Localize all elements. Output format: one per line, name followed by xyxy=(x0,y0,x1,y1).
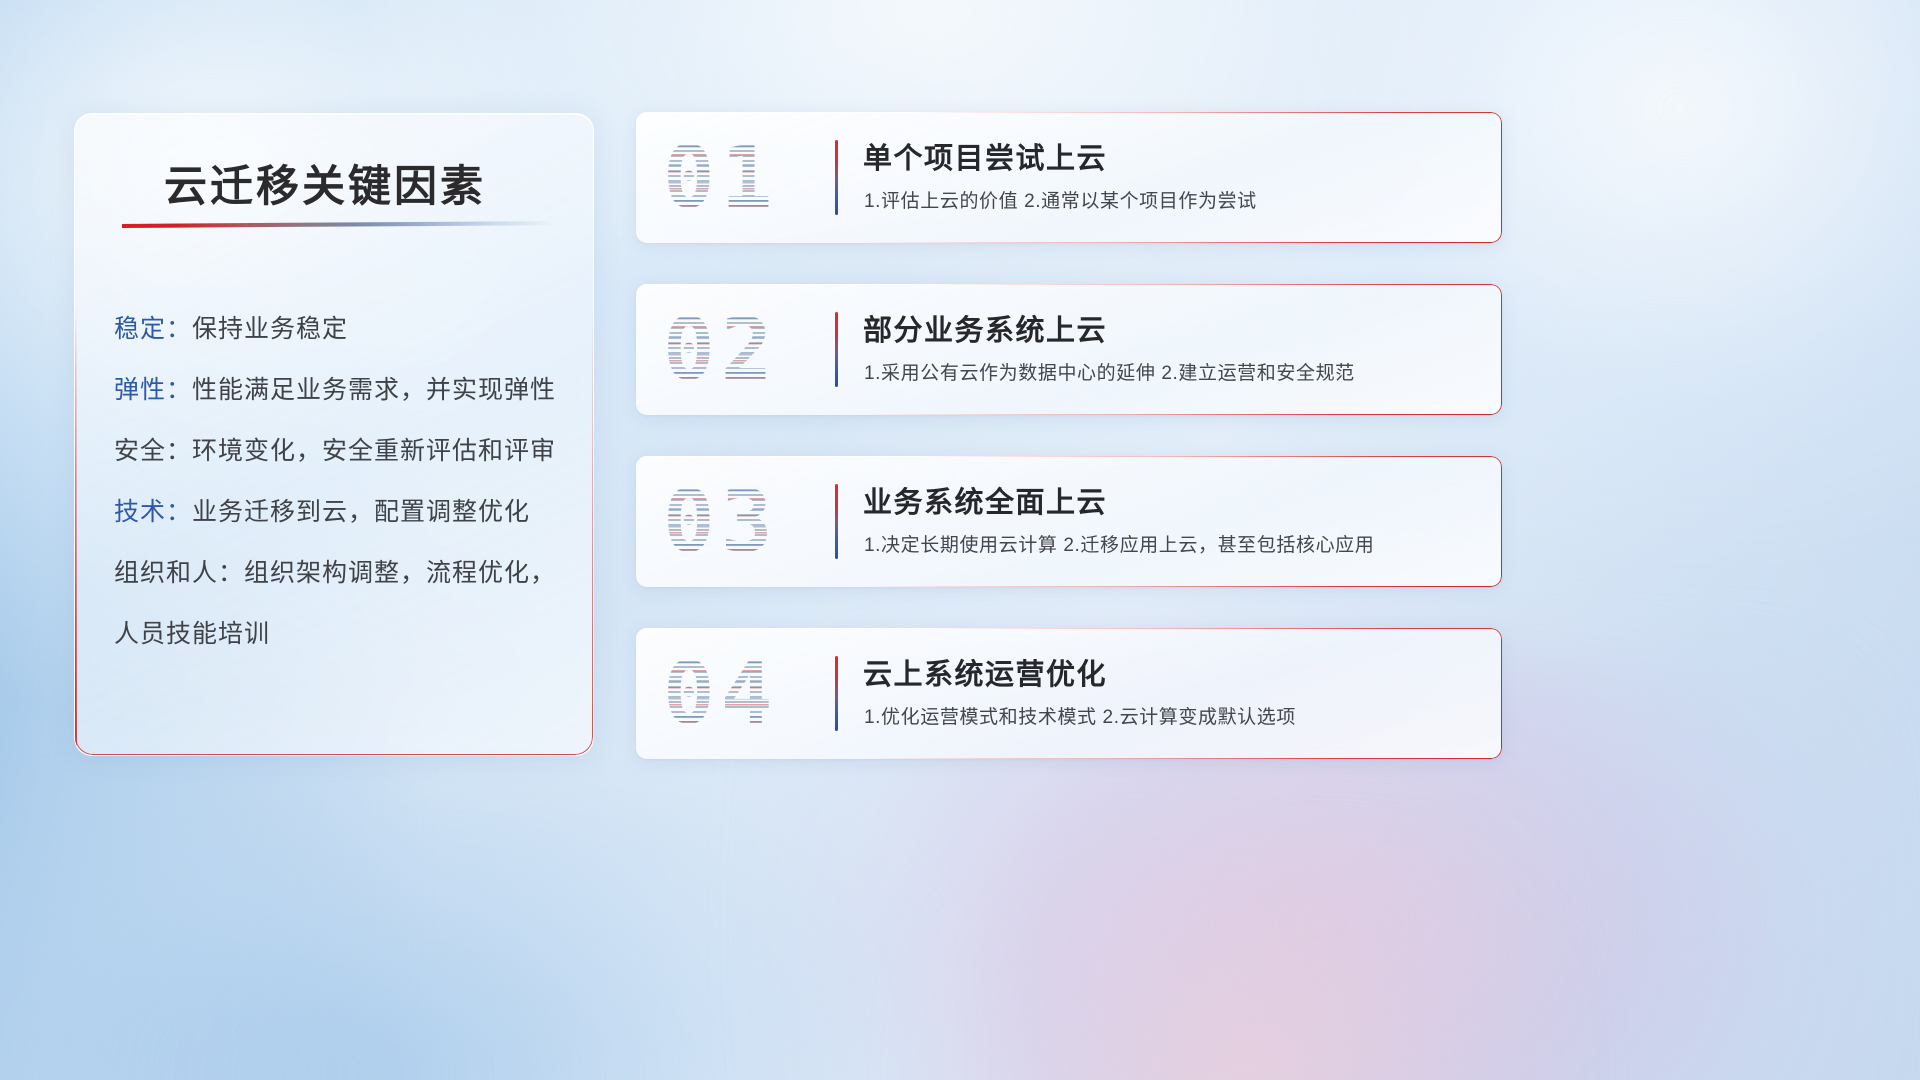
stage-accent-bar xyxy=(835,312,838,387)
stage-subtitle: 1.优化运营模式和技术模式 2.云计算变成默认选项 xyxy=(864,702,1296,729)
stage-title: 部分业务系统上云 xyxy=(863,307,1107,349)
key-factor-row: 技术：业务迁移到云，配置调整优化 xyxy=(114,482,569,543)
stage-card[interactable]: 0202部分业务系统上云1.采用公有云作为数据中心的延伸 2.建立运营和安全规范 xyxy=(636,284,1502,415)
background-pink-glow-2 xyxy=(922,842,1575,1080)
stage-title: 云上系统运营优化 xyxy=(863,651,1107,693)
key-factor-row: 安全：环境变化，安全重新评估和评审 xyxy=(114,421,569,482)
key-factor-value: 性能满足业务需求，并实现弹性 xyxy=(192,376,556,404)
stage-title: 单个项目尝试上云 xyxy=(863,135,1107,177)
stage-subtitle: 1.评估上云的价值 2.通常以某个项目作为尝试 xyxy=(864,186,1257,213)
key-factor-value: 组织架构调整，流程优化， xyxy=(244,559,556,587)
key-factor-label: 技术： xyxy=(114,498,192,526)
key-factor-row: 稳定：保持业务稳定 xyxy=(114,299,569,360)
key-factors-list: 稳定：保持业务稳定弹性：性能满足业务需求，并实现弹性安全：环境变化，安全重新评估… xyxy=(114,299,569,665)
key-factor-value: 业务迁移到云，配置调整优化 xyxy=(192,498,530,526)
key-factor-row: 人员技能培训 xyxy=(114,604,569,665)
key-factor-value: 环境变化，安全重新评估和评审 xyxy=(192,437,556,465)
key-factor-row: 弹性：性能满足业务需求，并实现弹性 xyxy=(114,360,569,421)
stage-subtitle: 1.决定长期使用云计算 2.迁移应用上云，甚至包括核心应用 xyxy=(864,530,1374,557)
stage-title: 业务系统全面上云 xyxy=(863,479,1107,521)
stage-number-watermark: 04 xyxy=(663,636,779,752)
key-factor-label: 稳定： xyxy=(114,315,192,343)
stage-number-watermark: 01 xyxy=(663,120,779,236)
stage-number-watermark: 02 xyxy=(663,292,779,408)
stage-accent-bar xyxy=(835,140,838,215)
page-title: 云迁移关键因素 xyxy=(164,152,486,214)
stage-accent-bar xyxy=(835,656,838,731)
stage-card[interactable]: 0404云上系统运营优化1.优化运营模式和技术模式 2.云计算变成默认选项 xyxy=(636,628,1502,759)
stage-accent-bar xyxy=(835,484,838,559)
key-factors-panel: 云迁移关键因素 稳定：保持业务稳定弹性：性能满足业务需求，并实现弹性安全：环境变… xyxy=(74,113,594,756)
stage-card[interactable]: 0303业务系统全面上云1.决定长期使用云计算 2.迁移应用上云，甚至包括核心应… xyxy=(636,456,1502,587)
key-factor-value: 保持业务稳定 xyxy=(192,315,348,343)
key-factor-row: 组织和人：组织架构调整，流程优化， xyxy=(114,543,569,604)
key-factor-label: 组织和人： xyxy=(114,559,244,587)
stages-card-list: 0101单个项目尝试上云1.评估上云的价值 2.通常以某个项目作为尝试0202部… xyxy=(636,112,1502,759)
key-factor-value: 人员技能培训 xyxy=(114,620,270,648)
key-factor-label: 安全： xyxy=(114,437,192,465)
stage-subtitle: 1.采用公有云作为数据中心的延伸 2.建立运营和安全规范 xyxy=(864,358,1355,385)
key-factor-label: 弹性： xyxy=(114,376,192,404)
stage-card[interactable]: 0101单个项目尝试上云1.评估上云的价值 2.通常以某个项目作为尝试 xyxy=(636,112,1502,243)
title-underline-accent xyxy=(122,221,556,228)
stage-number-watermark: 03 xyxy=(663,464,779,580)
